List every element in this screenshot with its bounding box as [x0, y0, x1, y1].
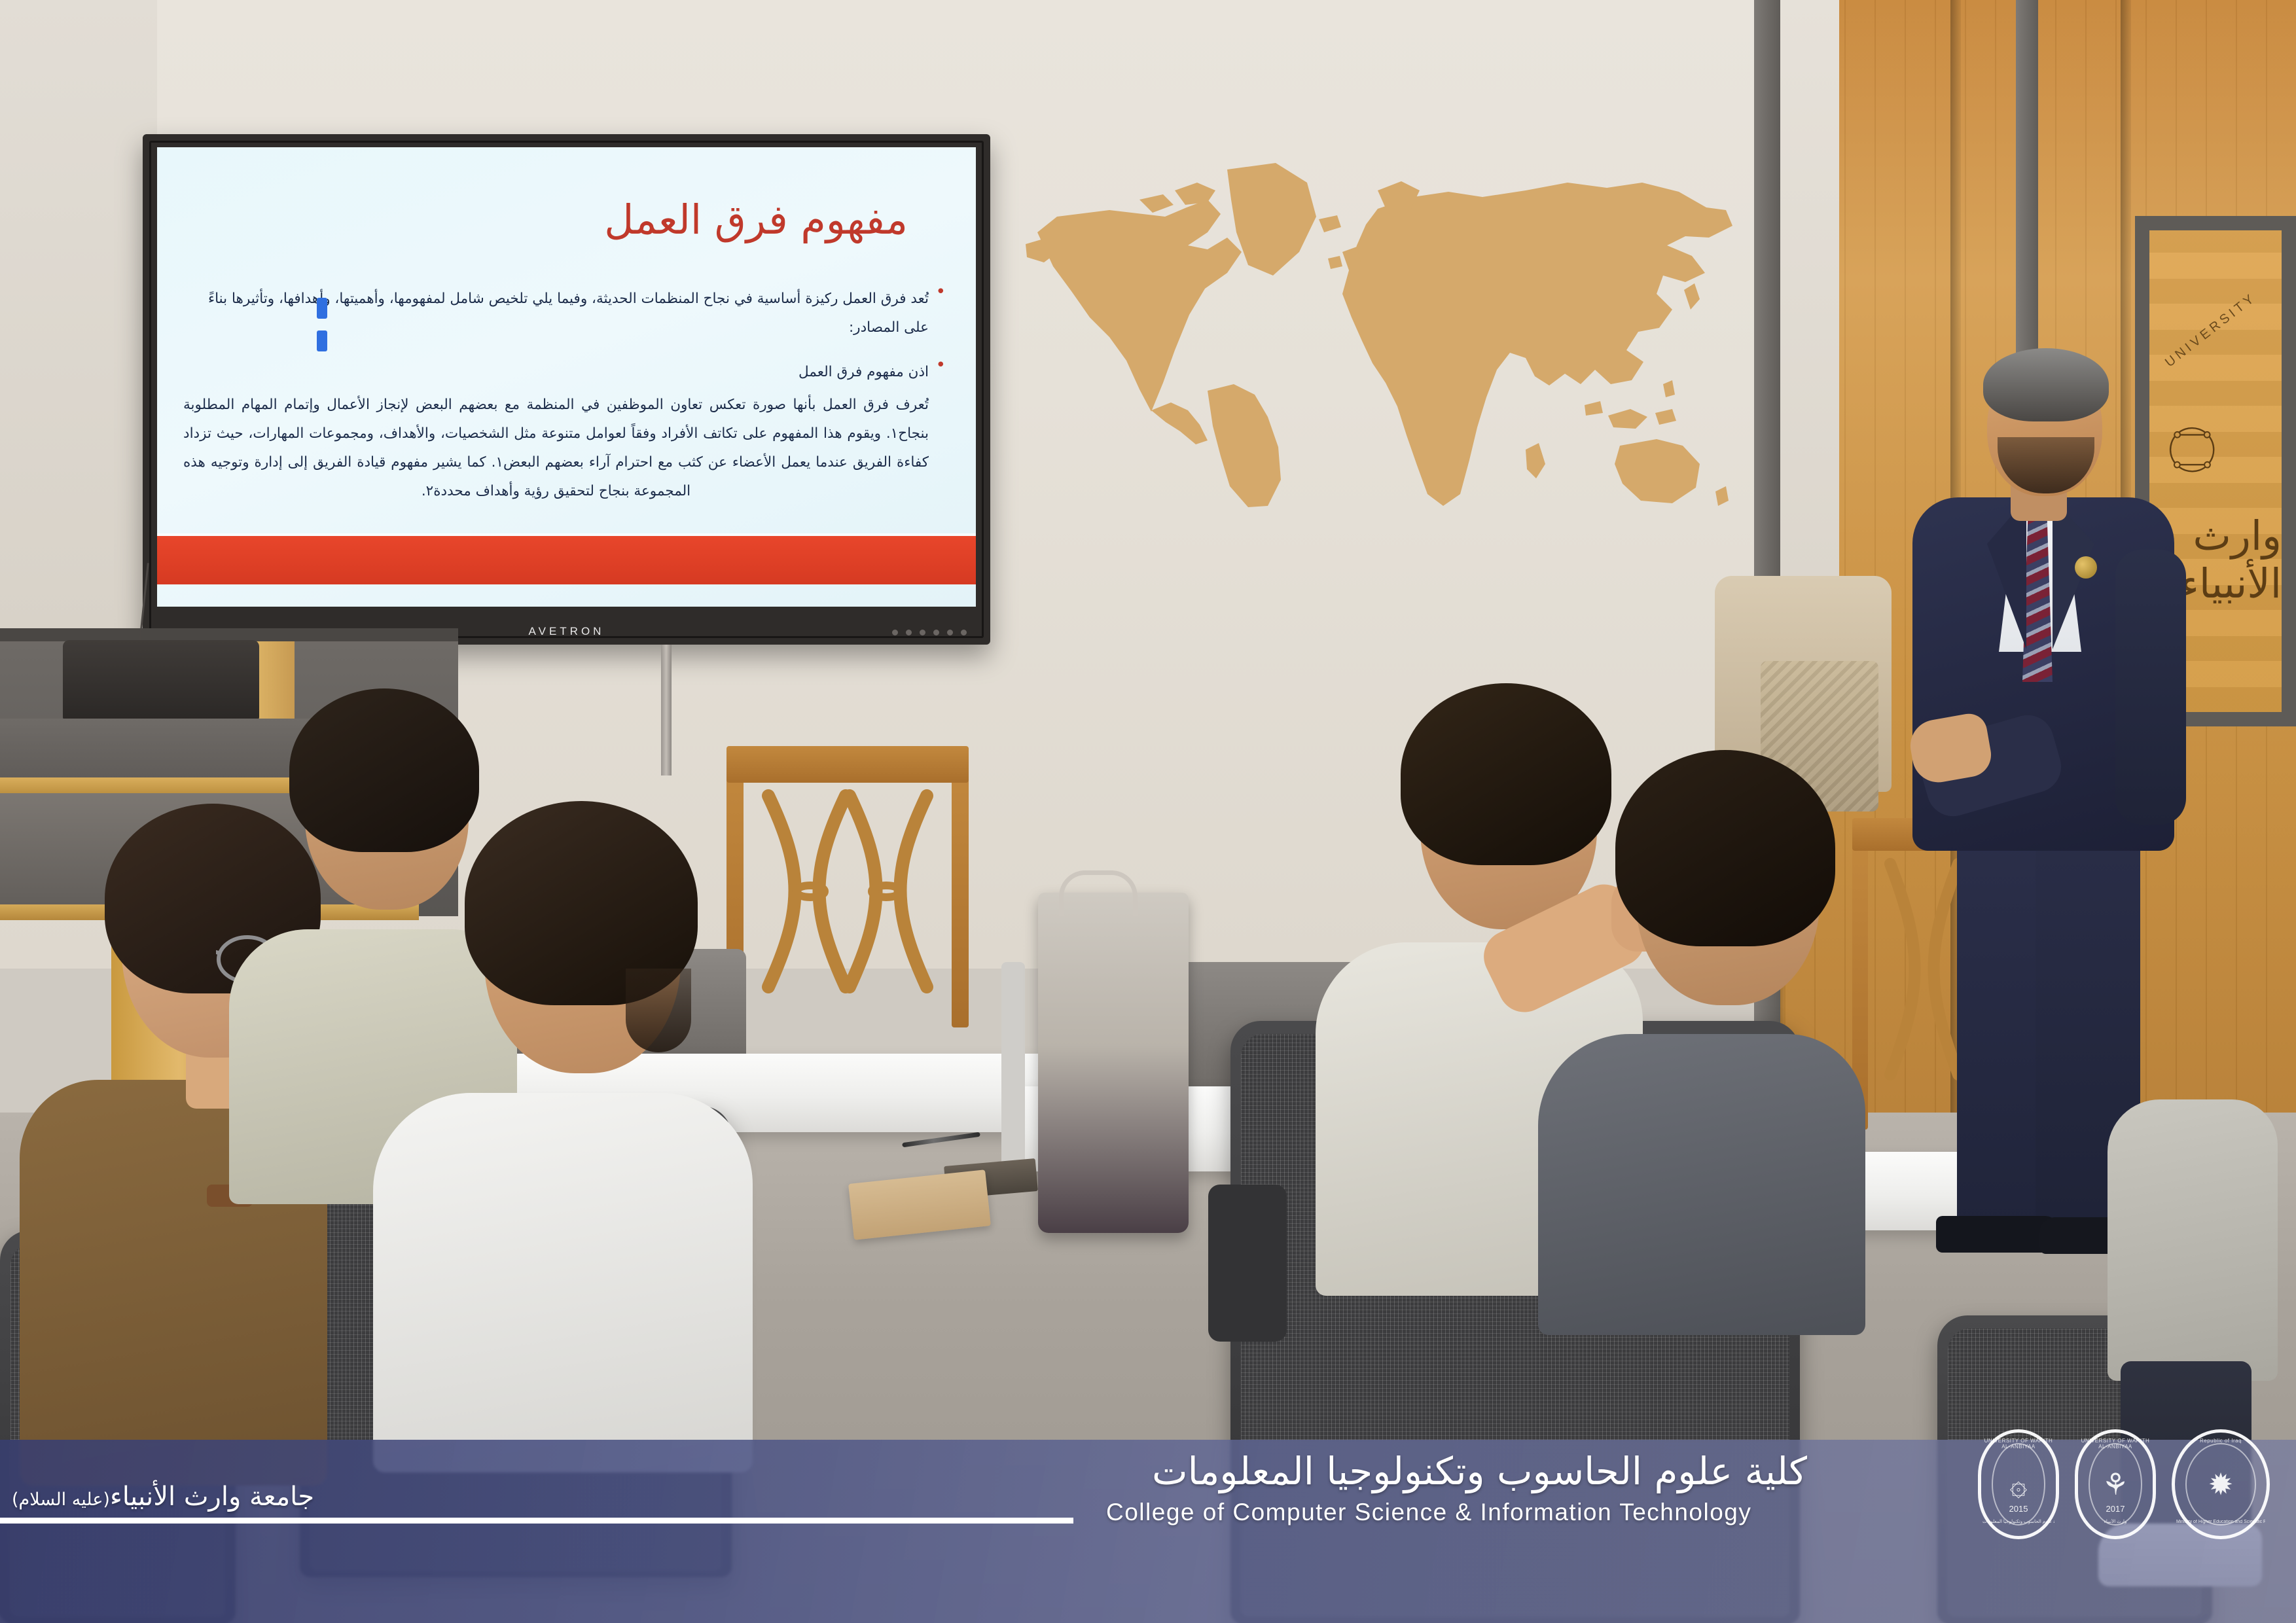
world-map-wall-art: [1011, 154, 1744, 507]
seal-3-arc-text: Republic of Iraq: [2175, 1438, 2267, 1444]
laptop-bag[interactable]: [1038, 893, 1189, 1233]
lecture-room-photo: UNIVERSITY ۝ وارث الأنبياء: [0, 0, 2296, 1623]
seal-1-year: 2015: [1981, 1504, 2056, 1514]
slide-bullet-2-body: تُعرف فرق العمل بأنها صورة تعكس تعاون ال…: [183, 391, 929, 506]
left-wall-upper: [0, 0, 157, 641]
wooden-chair-center[interactable]: [726, 746, 969, 1027]
presentation-slide: مفهوم فرق العمل تُعد فرق العمل ركيزة أسا…: [157, 147, 976, 607]
seal-2-year: 2017: [2078, 1504, 2153, 1514]
chair-armrest-right: [1208, 1185, 1287, 1342]
college-of-computer-science-seal-icon[interactable]: UNIVERSITY OF WARITH AL-ANBIYAA ۞ 2015 ك…: [1978, 1429, 2059, 1539]
board-side-button-2[interactable]: [317, 330, 327, 351]
board-indicator-dots: [892, 630, 967, 635]
seal-2-caption: وارث الأنبياء: [2079, 1519, 2151, 1524]
slide-bullet-2: اذن مفهوم فرق العمل تُعرف فرق العمل بأنه…: [183, 358, 946, 506]
footer-university-arabic-suffix: (عليه السلام): [12, 1489, 110, 1510]
seal-1-arc-text: UNIVERSITY OF WARITH AL-ANBIYAA: [1981, 1438, 2056, 1450]
bag-handle: [1059, 870, 1138, 916]
desk-side-panel-center: [1001, 962, 1025, 1178]
slide-bullet-2-lead: اذن مفهوم فرق العمل: [183, 358, 929, 387]
footer-logo-group: UNIVERSITY OF WARITH AL-ANBIYAA ۞ 2015 ك…: [1978, 1429, 2270, 1539]
footer-university-arabic-main: جامعة وارث الأنبياء: [110, 1482, 314, 1512]
board-side-button-1[interactable]: [317, 298, 327, 319]
seal-2-arc-text: UNIVERSITY OF WARITH AL-ANBIYAA: [2078, 1438, 2153, 1450]
slide-bullet-1-lead: تُعد فرق العمل ركيزة أساسية في نجاح المن…: [183, 285, 929, 342]
footer-divider-rule: [0, 1518, 1073, 1524]
footer-banner: جامعة وارث الأنبياء(عليه السلام) كلية عل…: [0, 1440, 2296, 1623]
footer-college-name-english: College of Computer Science & Informatio…: [1106, 1499, 1751, 1526]
university-of-warith-al-anbiyaa-seal-icon[interactable]: UNIVERSITY OF WARITH AL-ANBIYAA ⚘ 2017 و…: [2075, 1429, 2156, 1539]
seal-1-caption: كلية علوم الحاسوب وتكنولوجيا المعلومات: [1982, 1519, 2054, 1524]
display-brand-text: AVETRON: [529, 625, 605, 637]
footer-college-name-arabic: كلية علوم الحاسوب وتكنولوجيا المعلومات: [1152, 1449, 1807, 1493]
interactive-smart-board[interactable]: مفهوم فرق العمل تُعد فرق العمل ركيزة أسا…: [143, 134, 990, 645]
lapel-pin: [2075, 556, 2097, 579]
slide-body: تُعد فرق العمل ركيزة أساسية في نجاح المن…: [183, 285, 946, 522]
slide-bullet-1: تُعد فرق العمل ركيزة أساسية في نجاح المن…: [183, 285, 946, 342]
student-right-back: [1518, 694, 1885, 1335]
student-center: [367, 753, 759, 1472]
slide-title: مفهوم فرق العمل: [604, 196, 908, 243]
slide-accent-bar: [157, 536, 976, 584]
footer-university-name-arabic: جامعة وارث الأنبياء(عليه السلام): [12, 1482, 314, 1512]
seal-3-caption: Ministry of Higher Education and Scienti…: [2176, 1520, 2265, 1524]
ministry-of-higher-education-seal-icon[interactable]: Republic of Iraq ✹ Ministry of Higher Ed…: [2172, 1429, 2270, 1539]
